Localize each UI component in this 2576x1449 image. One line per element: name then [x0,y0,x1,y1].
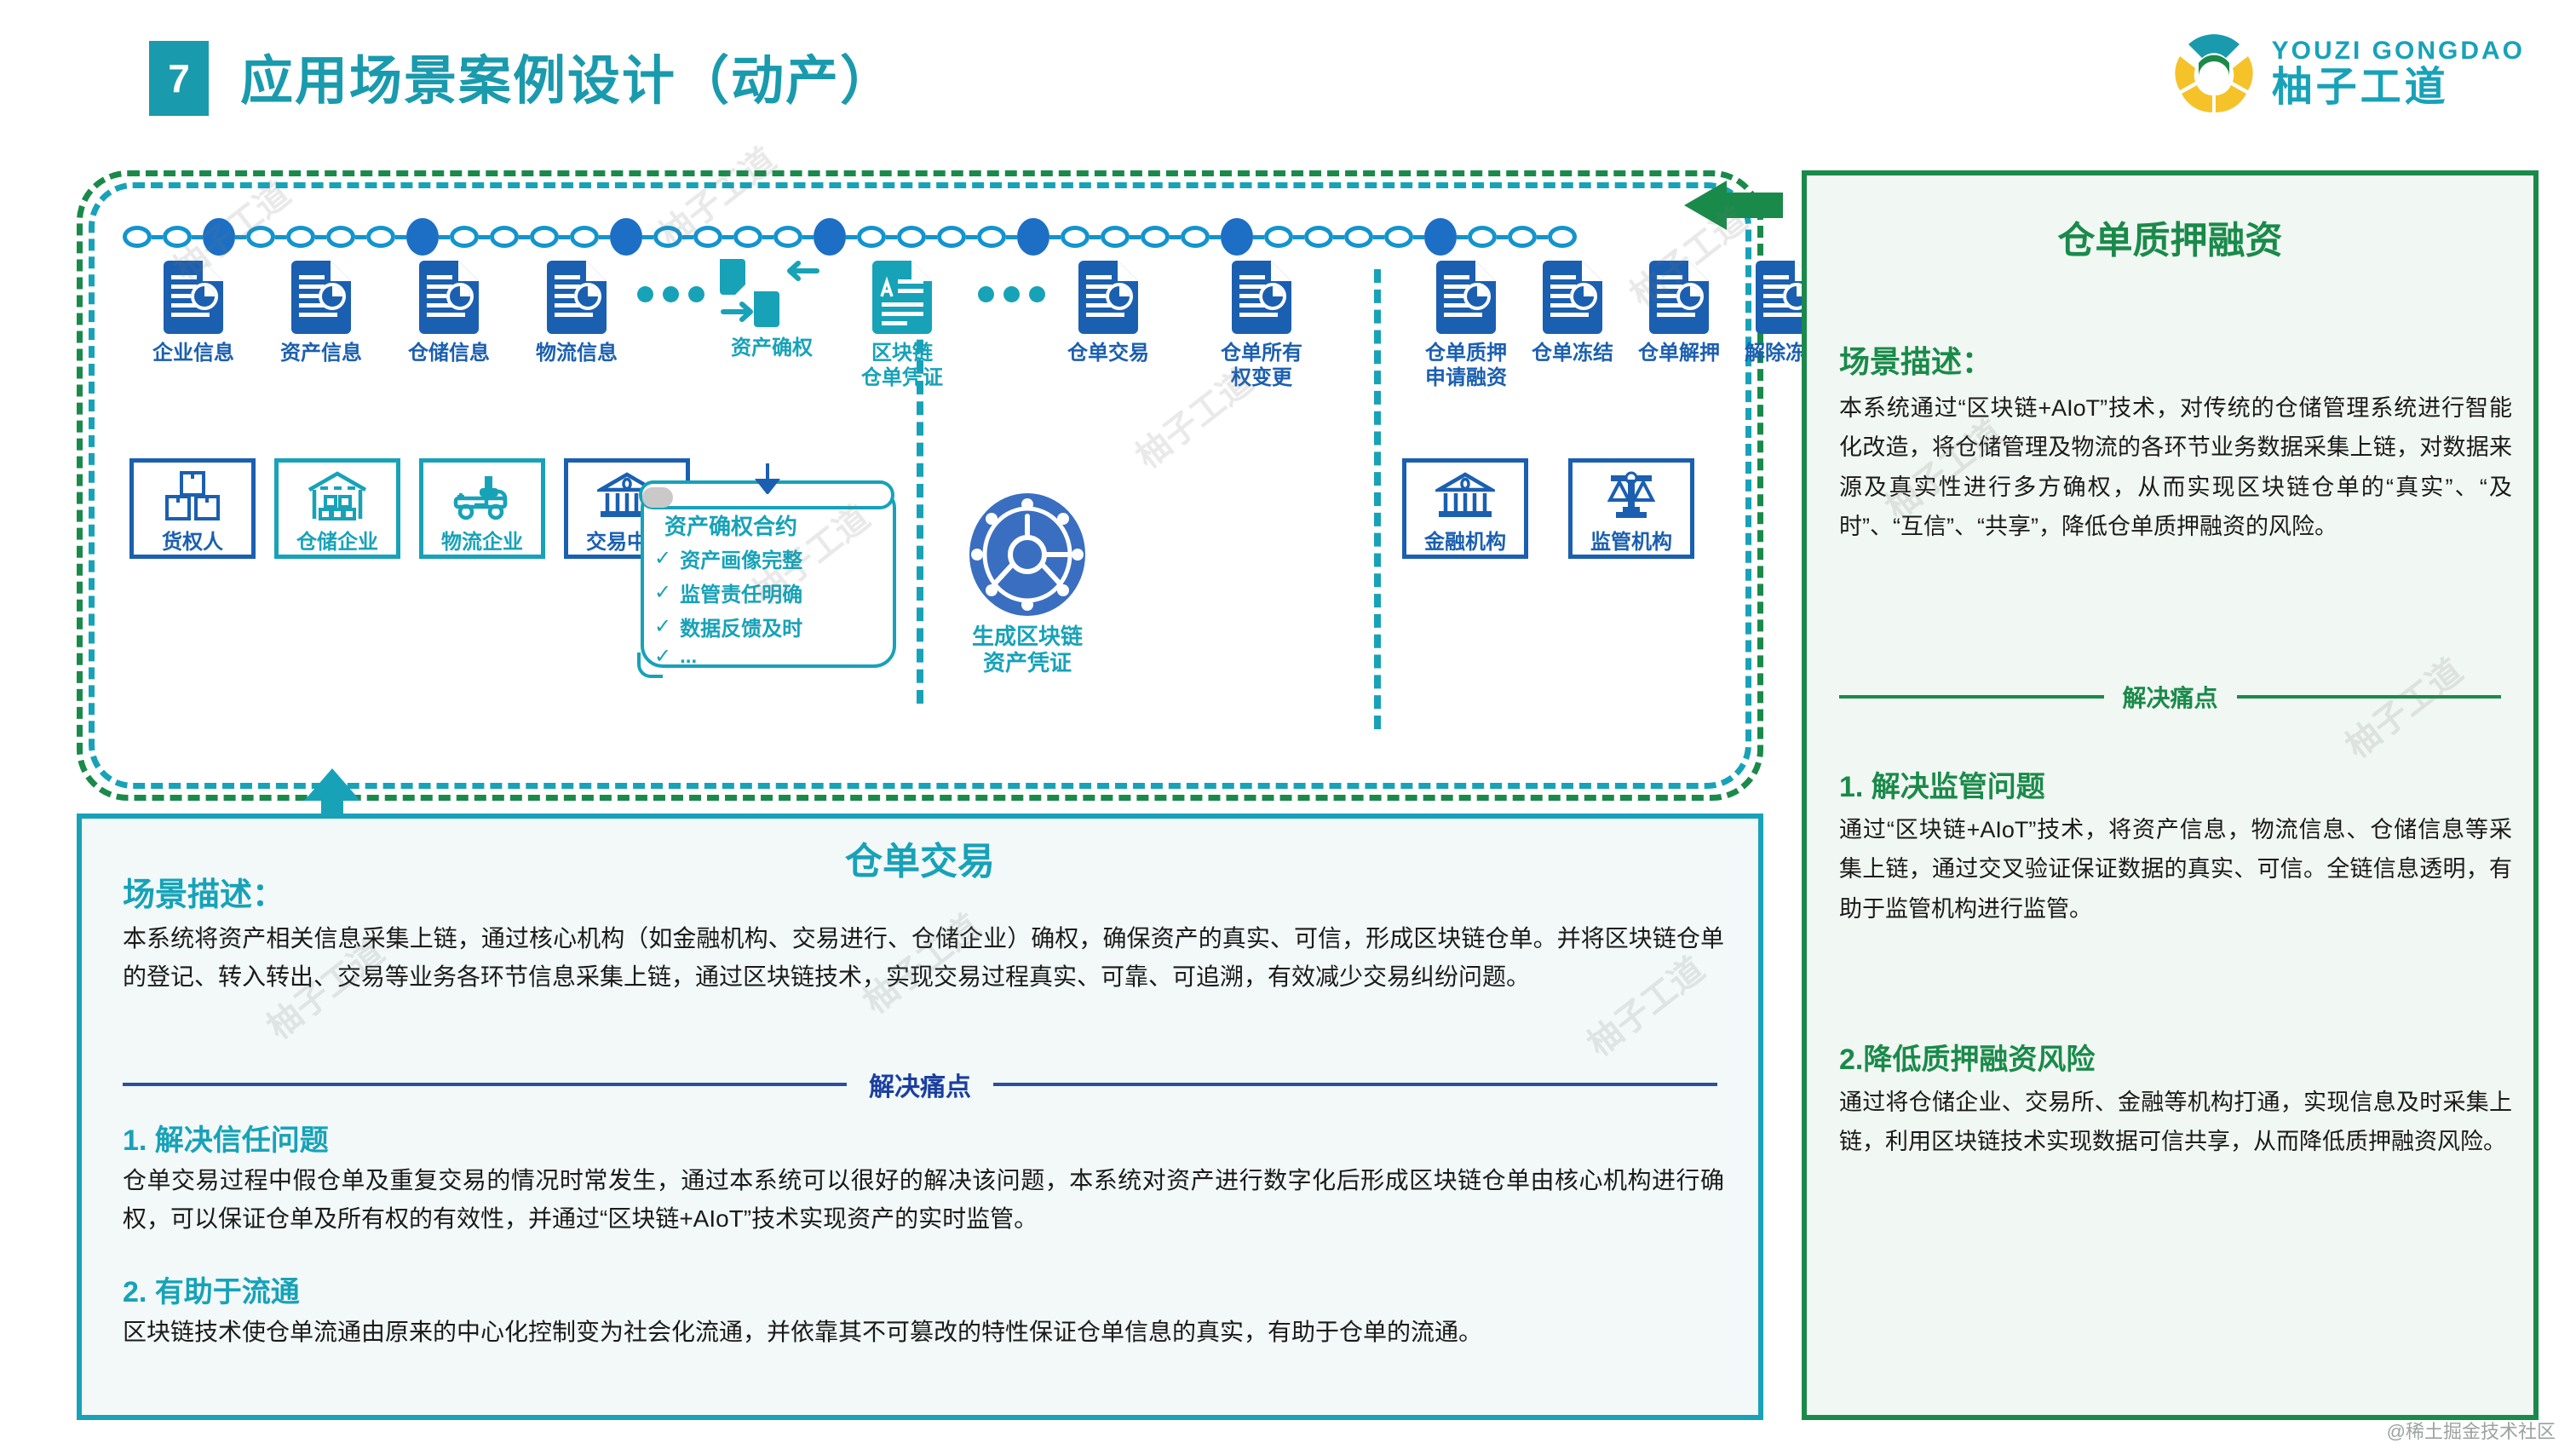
blockchain-chain-graphic [123,220,1716,254]
chain-connector [926,235,937,239]
divider-line-right [993,1083,1717,1086]
section-number-badge: 7 [149,41,209,116]
pain-point-body: 通过“区块链+AIoT”技术，将资产信息，物流信息、仓储信息等采集上链，通过交叉… [1839,810,2512,929]
chain-link [326,226,355,248]
panel-title: 仓单质押融资 [1807,210,2533,264]
document-chart-icon [1078,261,1138,334]
entity-label: 物流企业 [441,525,523,555]
chain-connector [1049,235,1061,239]
scene-description-heading: 场景描述： [1839,337,1992,382]
chain-connector [355,235,366,239]
chain-link [977,226,1006,248]
document-chart-icon [547,261,607,334]
entity-box-cargo-owner[interactable]: 货权人 [129,458,256,559]
chain-link [490,226,519,248]
entity-label: 金融机构 [1424,525,1506,555]
chain-connector [152,235,163,239]
chain-connector [559,235,570,239]
flow-node-label: 物流信息 [513,341,641,365]
contract-item: ✓ 数据反馈及时 [654,612,802,641]
source-watermark: @稀土掘金技术社区 [2387,1417,2556,1444]
flow-node-label: 仓单交易 [1044,341,1172,365]
chain-connector [1170,235,1181,239]
blockchain-vault-node[interactable]: 生成区块链 资产凭证 [951,491,1104,676]
check-icon: ✓ [654,546,671,571]
entity-box-logistics[interactable]: 物流企业 [419,458,545,559]
chain-link [123,226,152,248]
chain-block-node [1424,218,1457,256]
divider-label: 解决痛点 [2123,680,2218,714]
chain-connector [1537,235,1548,239]
chain-link [937,226,966,248]
chain-connector [275,235,286,239]
flow-node[interactable]: 仓单交易 [1044,261,1172,365]
arrow-down-icon [755,463,780,494]
flow-node[interactable]: 仓储信息 [385,261,513,365]
entity-box-regulator[interactable]: 监管机构 [1568,458,1694,559]
flow-node[interactable]: 资产确权 [704,256,840,360]
check-icon: ✓ [654,614,671,639]
chain-link [1304,226,1333,248]
panel-title: 仓单交易 [82,831,1758,885]
chain-connector [1090,235,1101,239]
chain-connector [1333,235,1344,239]
pain-point-body: 通过将仓储企业、交易所、金融等机构打通，实现信息及时采集上链，利用区块链技术实现… [1839,1083,2512,1162]
divider-line-left [123,1083,847,1086]
flow-node[interactable]: 资产信息 [257,261,385,365]
chain-connector [1210,235,1221,239]
pain-point-heading: 1. 解决监管问题 [1839,763,2045,805]
chain-link [450,226,479,248]
chain-block-node [610,218,642,256]
chain-connector [846,235,857,239]
chain-link [1384,226,1413,248]
chain-block-node [406,218,439,256]
divider-line-right [2237,695,2502,699]
entity-label: 仓储企业 [296,525,378,555]
chain-link [773,226,802,248]
chain-link [286,226,315,248]
flow-node[interactable]: 区块链 仓单凭证 [838,261,966,391]
chain-connector [1253,235,1264,239]
flow-node-label: 企业信息 [129,341,257,365]
entity-label: 货权人 [162,525,223,555]
chain-connector [439,235,450,239]
chain-connector [886,235,897,239]
chain-link [1508,226,1537,248]
scene-description-heading: 场景描述： [123,868,285,915]
warehouse-receipt-trading-panel: 仓单交易 场景描述： 本系统将资产相关信息采集上链，通过核心机构（如金融机构、交… [77,814,1763,1420]
chain-connector [762,235,773,239]
truck-icon [449,469,515,522]
chain-link [857,226,886,248]
chain-block-node [1221,218,1253,256]
chain-connector [599,235,610,239]
chain-connector [519,235,530,239]
chain-link [366,226,395,248]
pain-point-heading: 2.降低质押融资风险 [1839,1036,2095,1078]
flow-node-label: 区块链 仓单凭证 [838,341,966,391]
chain-link [733,226,762,248]
chain-block-node [1017,218,1049,256]
scroll-knob [642,487,673,508]
chain-connector [1293,235,1304,239]
document-chart-icon [291,261,351,334]
ellipsis-dots-icon-2 [978,286,1045,302]
chain-connector [1006,235,1017,239]
chain-link [1181,226,1210,248]
scales-icon [1601,469,1662,522]
document-chart-icon [419,261,479,334]
scroll-tail [637,653,663,678]
pledge-financing-panel: 仓单质押融资 场景描述： 本系统通过“区块链+AIoT”技术，对传统的仓储管理系… [1802,170,2539,1420]
document-chart-icon [1232,261,1291,334]
chain-connector [1413,235,1424,239]
slide-root: 7 应用场景案例设计（动产） YOUZI GONGDAO 柚子工道 [0,0,2576,1449]
chain-link [530,226,559,248]
entity-box-warehouse[interactable]: 仓储企业 [274,458,400,559]
divider-line-left [1839,695,2104,699]
logo-text-cn: 柚子工道 [2272,66,2525,109]
slide-header: 7 应用场景案例设计（动产） YOUZI GONGDAO 柚子工道 [0,0,2576,149]
contract-item-label: ... [680,645,697,669]
document-a-icon [872,261,932,334]
check-icon: ✓ [654,580,671,605]
chain-connector [642,235,653,239]
boxes-icon [164,469,221,522]
pain-point-body: 区块链技术使仓单流通由原来的中心化控制变为社会化流通，并依靠其不可篡改的特性保证… [123,1313,1724,1351]
logo-text-en: YOUZI GONGDAO [2272,37,2525,65]
chain-link [1548,226,1577,248]
chain-link [570,226,599,248]
divider-label: 解决痛点 [869,1066,971,1103]
brand-logo: YOUZI GONGDAO 柚子工道 [2173,31,2525,116]
logo-mark-icon [2173,32,2255,114]
pain-point-heading: 2. 有助于流通 [123,1268,300,1310]
chain-connector [395,235,406,239]
warehouse-icon [306,469,369,522]
flow-diagram-panel: 企业信息 资产信息 [77,170,1763,801]
chain-link [1468,226,1497,248]
chain-connector [315,235,326,239]
pain-point-heading: 1. 解决信任问题 [123,1117,329,1159]
chain-link [1344,226,1373,248]
contract-title: 资产确权合约 [664,509,797,541]
document-chart-icon [1436,261,1496,334]
contract-item-label: 数据反馈及时 [680,612,802,641]
flow-node[interactable]: 物流信息 [513,261,641,365]
pain-points-divider: 解决痛点 [123,1066,1717,1103]
document-chart-icon [1543,261,1602,334]
chain-connector [1130,235,1141,239]
chain-link [1061,226,1090,248]
vault-label: 生成区块链 资产凭证 [951,624,1104,676]
exchange-doc-icon [716,256,827,334]
flow-node-row: 企业信息 资产信息 [99,261,1741,431]
chain-connector [966,235,977,239]
chain-connector [1457,235,1468,239]
chain-block-node [814,218,846,256]
flow-node-label: 仓储信息 [385,341,513,365]
chain-connector [1373,235,1384,239]
entity-label: 监管机构 [1590,525,1672,555]
pain-point-body: 仓单交易过程中假仓单及重复交易的情况时常发生，通过本系统可以很好的解决该问题，本… [123,1161,1724,1239]
chain-connector [1497,235,1508,239]
vault-icon [951,491,1104,618]
entity-box-financial-institution[interactable]: 金融机构 [1402,458,1528,559]
flow-node-label: 资产确权 [704,336,840,360]
flow-node-label: 资产信息 [257,341,385,365]
chain-connector [479,235,490,239]
chain-link [897,226,926,248]
ellipsis-dots-icon [637,286,704,302]
chain-link [1264,226,1293,248]
page-title: 应用场景案例设计（动产） [240,37,894,114]
bank-icon [1435,469,1495,522]
chain-connector [802,235,814,239]
chain-connector [722,235,733,239]
chain-link [1101,226,1130,248]
chain-link [1141,226,1170,248]
